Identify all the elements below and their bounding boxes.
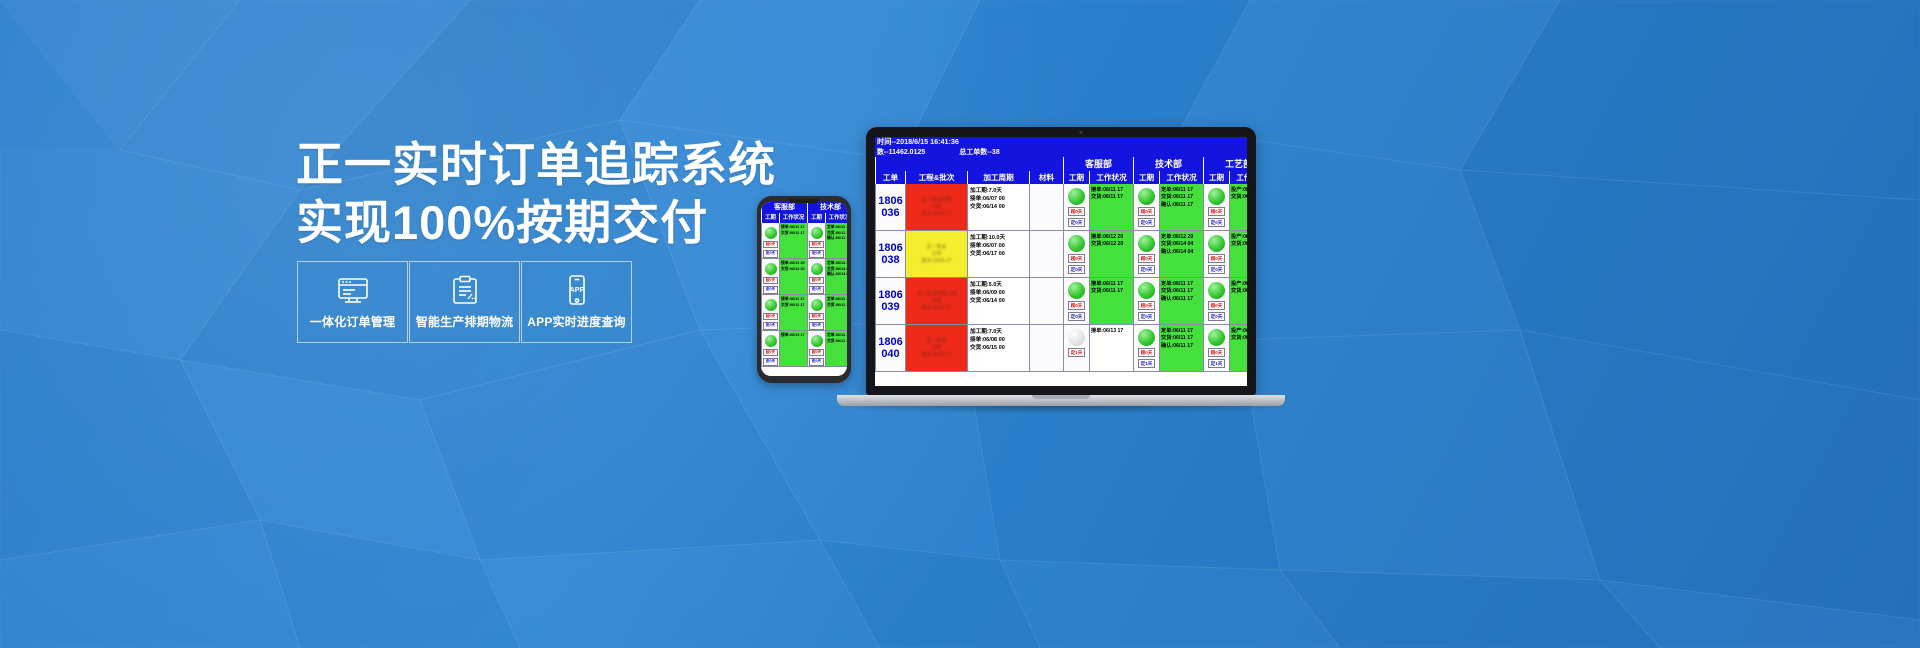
status-badge: 超0天 [1208, 254, 1226, 263]
feature-label: APP实时进度查询 [527, 313, 625, 330]
phone-work-status-cell-d0[interactable]: 接单:06/11 17交货:06/11 17 [779, 295, 807, 331]
status-indicator-green [765, 335, 777, 347]
status-indicator-green [1138, 329, 1155, 346]
status-badge: 定0天 [809, 358, 824, 366]
processing-cycle-cell[interactable]: 加工期:7.0天接单:06/08 00交货:06/15 00 [967, 325, 1029, 372]
processing-cycle-cell[interactable]: 加工期:5.0天接单:06/09 00交货:06/14 00 [967, 278, 1029, 325]
work-status-line: 交货:06/12 20 [1091, 241, 1132, 248]
work-order-cell[interactable]: 1806040 [875, 325, 905, 372]
status-badge: 超0天 [763, 313, 778, 321]
laptop-lid: 时间--2018/6/15 16:41:36 数--11462.0125 总工单… [866, 127, 1256, 395]
column-header-d1-0[interactable]: 工期 [1133, 171, 1159, 184]
phone-column-header-d0-1[interactable]: 工作状况 [779, 213, 807, 223]
material-cell[interactable] [1029, 231, 1063, 278]
work-status-line: 确认:06/14 04 [1161, 249, 1202, 256]
status-badge: 超0天 [1138, 348, 1156, 357]
dashboard-metabar: 数--11462.0125 总工单数--38 [875, 147, 1247, 157]
work-status-cell-d0[interactable]: 接单:06/12 20交货:06/12 20 [1089, 231, 1133, 278]
project-batch-cell[interactable]: 正一实业公司批次-2018-17 [905, 231, 967, 278]
dashboard-time: 时间--2018/6/15 16:41:36 [877, 137, 959, 147]
work-status-line: 定单:06/12 20 [827, 261, 847, 267]
status-badge: 超0天 [763, 277, 778, 285]
term-cell-d2[interactable]: 超0天定0天 [1203, 184, 1229, 231]
processing-cycle-cell[interactable]: 加工期:7.0天接单:06/07 00交货:06/14 00 [967, 184, 1029, 231]
material-cell[interactable] [1029, 325, 1063, 372]
work-order-cell[interactable]: 1806039 [875, 278, 905, 325]
phone-column-header-row: 工期工作状况工期工作状况 [761, 213, 847, 223]
phone-term-cell-d0[interactable]: 超0天定0天 [761, 259, 779, 295]
cycle-line: 接单:06/08 00 [970, 336, 1027, 344]
column-header-d0-0[interactable]: 工期 [1063, 171, 1089, 184]
phone-notch [789, 199, 819, 203]
term-cell-d1[interactable]: 超0天定0天 [1133, 184, 1159, 231]
work-status-line: 定单:06/11 17 [827, 297, 847, 303]
project-batch-cell[interactable]: 正一实业有限公司批次-2018-17 [905, 184, 967, 231]
work-status-line: 交货:06/12 09 [1231, 288, 1247, 295]
status-badge: 定0天 [1208, 218, 1226, 227]
order-tracking-dashboard: 时间--2018/6/15 16:41:36 数--11462.0125 总工单… [875, 137, 1247, 386]
phone-table-row[interactable]: 超0天定0天接单:06/11 17交货:06/11 17超0天定0天定单:06/… [761, 223, 847, 259]
work-order-bottom: 038 [881, 254, 899, 266]
work-order-top: 1806 [878, 289, 902, 301]
work-order-cell[interactable]: 1806036 [875, 184, 905, 231]
status-badge: 定1天 [1208, 359, 1226, 368]
dept-header-0[interactable]: 客服部 [1063, 157, 1133, 171]
smartphone-mockup: 客服部技术部 工期工作状况工期工作状况 超0天定0天接单:06/11 17交货:… [757, 196, 851, 383]
status-badge: 超0天 [1068, 301, 1086, 310]
phone-column-header-d0-0[interactable]: 工期 [761, 213, 779, 223]
feature-label: 智能生产排期物流 [416, 313, 514, 330]
status-badge: 超0天 [763, 349, 778, 357]
status-badge: 定1天 [1068, 348, 1086, 357]
table-row[interactable]: 1806038正一实业公司批次-2018-17加工期:10.0天接单:06/07… [875, 231, 1247, 278]
work-status-line: 交货:06/11 17 [1161, 288, 1202, 295]
work-status-line: 接单:06/12 20 [781, 261, 806, 267]
cycle-line: 交货:06/15 00 [970, 344, 1027, 352]
phone-dashboard: 客服部技术部 工期工作状况工期工作状况 超0天定0天接单:06/11 17交货:… [761, 202, 847, 376]
status-badge: 定0天 [1138, 218, 1156, 227]
phone-work-status-cell-d0[interactable]: 接单:06/13 17 [779, 331, 807, 367]
phone-work-status-cell-d1[interactable]: 定单:06/11 17交货:06/11 17确认:06/11 17 [825, 223, 847, 259]
work-status-cell-d0[interactable]: 接单:06/11 17交货:06/11 17 [1089, 184, 1133, 231]
status-indicator-green [1138, 282, 1155, 299]
feature-list: 一体化订单管理 智能生产排期物流 [297, 261, 633, 343]
feature-label: 一体化订单管理 [310, 313, 395, 330]
feature-item-app-progress-query[interactable]: APP APP实时进度查询 [521, 261, 632, 343]
term-cell-d0[interactable]: 超0天定0天 [1063, 184, 1089, 231]
status-badge: 定0天 [1138, 312, 1156, 321]
project-batch-text: 正一实业公司批次-2018-17 [921, 244, 951, 265]
table-row[interactable]: 1806036正一实业有限公司批次-2018-17加工期:7.0天接单:06/0… [875, 184, 1247, 231]
term-cell-d0[interactable]: 超0天定0天 [1063, 231, 1089, 278]
status-indicator-green [765, 299, 777, 311]
cycle-line: 接单:06/07 00 [970, 242, 1027, 250]
term-cell-d1[interactable]: 超0天定1天 [1133, 325, 1159, 372]
promo-banner: 正一实时订单追踪系统 实现100%按期交付 一体化订单管理 [0, 0, 1920, 648]
status-badge: 超0天 [1068, 207, 1086, 216]
status-indicator-green [1208, 188, 1225, 205]
dashboard-meta-number: 数--11462.0125 [875, 147, 925, 157]
cycle-line: 接单:06/07 00 [970, 195, 1027, 203]
term-cell-d0[interactable]: 定1天 [1063, 325, 1089, 372]
work-status-line: 交货:06/12 20 [781, 267, 806, 273]
column-header-row: 工单工程&批次加工周期材料工期工作状况工期工作状况工期工作状况工期工作状况工期工… [875, 171, 1247, 184]
status-indicator-green [1208, 329, 1225, 346]
project-batch-cell[interactable]: 正一实业公司批次-2018-17 [905, 325, 967, 372]
dept-header-spacer [875, 157, 1063, 171]
phone-term-cell-d0[interactable]: 超0天定0天 [761, 331, 779, 367]
work-status-line: 交货:06/11 17 [1161, 194, 1202, 201]
work-status-line: 交货:06/14 04 [1161, 241, 1202, 248]
status-indicator-green [1068, 188, 1085, 205]
status-badge: 超0天 [1208, 301, 1226, 310]
feature-item-order-management[interactable]: 一体化订单管理 [297, 261, 408, 343]
work-status-line: 交货:06/11 17 [1161, 335, 1202, 342]
cycle-line: 加工期:7.0天 [970, 328, 1027, 336]
cycle-line: 加工期:5.0天 [970, 281, 1027, 289]
work-status-line: 确认:06/11 17 [827, 236, 847, 242]
phone-screen: 客服部技术部 工期工作状况工期工作状况 超0天定0天接单:06/11 17交货:… [761, 202, 847, 376]
status-indicator-green [811, 335, 823, 347]
work-status-line: 交货:06/11 17 [1091, 288, 1132, 295]
project-batch-cell[interactable]: 正一实业有限公司公司批次-2018-17 [905, 278, 967, 325]
status-badge: 定1天 [1138, 359, 1156, 368]
phone-term-cell-d1[interactable]: 超0天定0天 [807, 259, 825, 295]
work-order-bottom: 040 [881, 348, 899, 360]
status-indicator-green [1208, 235, 1225, 252]
work-order-top: 1806 [878, 195, 902, 207]
phone-work-status-cell-d1[interactable]: 定单:06/12 20交货:06/14 04确认:06/14 04 [825, 259, 847, 295]
dashboard-total-orders: 总工单数--38 [959, 147, 999, 157]
work-status-line: 确认:06/14 04 [827, 272, 847, 278]
work-status-line: 交货:06/11 17 [1231, 194, 1247, 201]
material-cell[interactable] [1029, 278, 1063, 325]
status-badge: 定0天 [1138, 265, 1156, 274]
status-indicator-green [1068, 235, 1085, 252]
laptop-notch [1032, 395, 1090, 399]
status-badge: 超0天 [1138, 254, 1156, 263]
clipboard-icon [448, 274, 482, 306]
status-badge: 超0天 [1138, 207, 1156, 216]
work-order-top: 1806 [878, 336, 902, 348]
work-status-line: 确认:06/11 17 [1161, 343, 1202, 350]
table-row[interactable]: 1806040正一实业公司批次-2018-17加工期:7.0天接单:06/08 … [875, 325, 1247, 372]
laptop-mockup: 时间--2018/6/15 16:41:36 数--11462.0125 总工单… [866, 127, 1296, 413]
phone-dept-header-0[interactable]: 客服部 [761, 202, 807, 213]
status-badge: 超0天 [1068, 254, 1086, 263]
phone-dept-header-1[interactable]: 技术部 [807, 202, 847, 213]
work-status-cell-d2[interactable]: 投产:06/11 17交货:06/11 17 [1229, 325, 1247, 372]
work-status-cell-d2[interactable]: 投产:06/14 04交货:06/14 04 [1229, 231, 1247, 278]
cycle-line: 接单:06/09 00 [970, 289, 1027, 297]
status-badge: 定0天 [763, 250, 778, 258]
phone-column-header-d1-1[interactable]: 工作状况 [825, 213, 847, 223]
work-status-cell-d1[interactable]: 定单:06/11 17交货:06/11 17确认:06/11 17 [1159, 278, 1203, 325]
work-status-line: 交货:06/11 17 [827, 303, 847, 309]
material-cell[interactable] [1029, 184, 1063, 231]
status-indicator-green [1208, 282, 1225, 299]
status-indicator-white [1068, 329, 1085, 346]
status-indicator-green [811, 227, 823, 239]
monitor-icon [336, 274, 370, 306]
project-batch-text: 正一实业公司批次-2018-17 [921, 338, 951, 359]
status-badge: 定0天 [763, 286, 778, 294]
work-status-line: 接单:06/13 17 [1091, 328, 1132, 335]
cycle-line: 加工期:10.0天 [970, 234, 1027, 242]
work-status-cell-d1[interactable]: 定单:06/11 17交货:06/11 17确认:06/11 17 [1159, 325, 1203, 372]
status-indicator-green [765, 263, 777, 275]
phone-table-row[interactable]: 超0天定0天接单:06/13 17超0天定0天定单:06/11 17交货:06/… [761, 331, 847, 367]
phone-app-icon: APP [560, 274, 594, 306]
phone-term-cell-d0[interactable]: 超0天定0天 [761, 223, 779, 259]
phone-work-status-cell-d0[interactable]: 接单:06/11 17交货:06/11 17 [779, 223, 807, 259]
cycle-line: 加工期:7.0天 [970, 187, 1027, 195]
phone-work-status-cell-d1[interactable]: 定单:06/11 17交货:06/11 17 [825, 295, 847, 331]
work-status-cell-d1[interactable]: 定单:06/12 20交货:06/14 04确认:06/14 04 [1159, 231, 1203, 278]
work-order-top: 1806 [878, 242, 902, 254]
work-status-line: 交货:06/11 17 [1091, 194, 1132, 201]
department-header-row: 客服部技术部工艺部生产部跟单部 [875, 157, 1247, 171]
work-status-line: 定单:06/11 17 [827, 225, 847, 231]
status-badge: 定0天 [809, 286, 824, 294]
column-header-d1-1[interactable]: 工作状况 [1159, 171, 1203, 184]
cycle-line: 交货:06/14 00 [970, 203, 1027, 211]
cycle-line: 交货:06/17 00 [970, 250, 1027, 258]
status-badge: 定0天 [809, 250, 824, 258]
term-cell-d1[interactable]: 超0天定0天 [1133, 231, 1159, 278]
work-status-cell-d1[interactable]: 定单:06/11 17交货:06/11 17确认:06/11 17 [1159, 184, 1203, 231]
work-status-line: 交货:06/11 17 [781, 303, 806, 309]
laptop-shadow [826, 406, 1296, 413]
work-status-line: 确认:06/11 17 [1161, 296, 1202, 303]
column-header-0[interactable]: 工单 [875, 171, 905, 184]
term-cell-d2[interactable]: 超0天定0天 [1203, 278, 1229, 325]
status-badge: 定0天 [1208, 265, 1226, 274]
svg-text:APP: APP [569, 285, 584, 294]
work-status-line: 交货:06/14 04 [1231, 241, 1247, 248]
status-badge: 超0天 [809, 277, 824, 285]
status-badge: 定0天 [809, 322, 824, 330]
work-status-line: 接单:06/11 17 [781, 297, 806, 303]
work-order-bottom: 039 [881, 301, 899, 313]
column-header-d0-1[interactable]: 工作状况 [1089, 171, 1133, 184]
status-badge: 超0天 [809, 349, 824, 357]
order-table-body[interactable]: 1806036正一实业有限公司批次-2018-17加工期:7.0天接单:06/0… [875, 184, 1247, 372]
status-indicator-green [1068, 282, 1085, 299]
cycle-line: 交货:06/14 00 [970, 297, 1027, 305]
status-badge: 定0天 [763, 358, 778, 366]
dept-header-1[interactable]: 技术部 [1133, 157, 1203, 171]
phone-table-row[interactable]: 超0天定0天接单:06/11 17交货:06/11 17超0天定0天定单:06/… [761, 295, 847, 331]
status-badge: 超0天 [809, 241, 824, 249]
work-status-line: 交货:06/11 17 [781, 231, 806, 237]
status-badge: 超0天 [1208, 348, 1226, 357]
status-badge: 定0天 [1208, 312, 1226, 321]
work-status-line: 确认:06/11 17 [1161, 202, 1202, 209]
status-indicator-green [765, 227, 777, 239]
status-indicator-green [811, 299, 823, 311]
phone-column-header-d1-0[interactable]: 工期 [807, 213, 825, 223]
status-badge: 定0天 [763, 322, 778, 330]
term-cell-d0[interactable]: 超0天定0天 [1063, 278, 1089, 325]
phone-dept-header-row: 客服部技术部 [761, 202, 847, 213]
webcam-icon [1080, 131, 1083, 134]
status-badge: 定0天 [1068, 312, 1086, 321]
table-row[interactable]: 1806039正一实业有限公司公司批次-2018-17加工期:5.0天接单:06… [875, 278, 1247, 325]
column-header-2[interactable]: 加工周期 [967, 171, 1029, 184]
work-status-line: 交货:06/11 17 [1231, 335, 1247, 342]
status-indicator-green [1138, 188, 1155, 205]
project-batch-text: 正一实业有限公司公司批次-2018-17 [916, 291, 956, 312]
processing-cycle-cell[interactable]: 加工期:10.0天接单:06/07 00交货:06/17 00 [967, 231, 1029, 278]
term-cell-d2[interactable]: 超0天定1天 [1203, 325, 1229, 372]
status-badge: 定0天 [1068, 265, 1086, 274]
phone-table-row[interactable]: 超0天定0天接单:06/12 20交货:06/12 20超0天定0天定单:06/… [761, 259, 847, 295]
term-cell-d2[interactable]: 超0天定0天 [1203, 231, 1229, 278]
status-badge: 定0天 [1068, 218, 1086, 227]
term-cell-d1[interactable]: 超0天定0天 [1133, 278, 1159, 325]
work-status-cell-d2[interactable]: 投产:06/12 09交货:06/12 09 [1229, 278, 1247, 325]
project-batch-text: 正一实业有限公司批次-2018-17 [921, 197, 951, 218]
status-badge: 超0天 [1138, 301, 1156, 310]
phone-term-cell-d1[interactable]: 超0天定0天 [807, 295, 825, 331]
work-status-cell-d2[interactable]: 投产:06/11 17交货:06/11 17 [1229, 184, 1247, 231]
phone-term-cell-d0[interactable]: 超0天定0天 [761, 295, 779, 331]
dashboard-timebar: 时间--2018/6/15 16:41:36 [875, 137, 1247, 147]
column-header-3[interactable]: 材料 [1029, 171, 1063, 184]
phone-term-cell-d1[interactable]: 超0天定0天 [807, 331, 825, 367]
column-header-d2-0[interactable]: 工期 [1203, 171, 1229, 184]
status-badge: 超0天 [809, 313, 824, 321]
column-header-d2-1[interactable]: 工作状况 [1229, 171, 1247, 184]
feature-item-production-scheduling[interactable]: 智能生产排期物流 [409, 261, 520, 343]
phone-work-status-cell-d0[interactable]: 接单:06/12 20交货:06/12 20 [779, 259, 807, 295]
column-header-1[interactable]: 工程&批次 [905, 171, 967, 184]
phone-term-cell-d1[interactable]: 超0天定0天 [807, 223, 825, 259]
phone-work-status-cell-d1[interactable]: 定单:06/11 17交货:06/11 17 [825, 331, 847, 367]
phone-table-body[interactable]: 超0天定0天接单:06/11 17交货:06/11 17超0天定0天定单:06/… [761, 223, 847, 367]
status-indicator-green [1138, 235, 1155, 252]
work-status-line: 接单:06/13 17 [781, 333, 806, 339]
work-status-line: 交货:06/11 17 [827, 339, 847, 345]
dept-header-2[interactable]: 工艺部 [1203, 157, 1247, 171]
work-status-line: 接单:06/11 17 [781, 225, 806, 231]
work-status-line: 定单:06/11 17 [827, 333, 847, 339]
work-order-cell[interactable]: 1806038 [875, 231, 905, 278]
work-order-bottom: 036 [881, 207, 899, 219]
status-badge: 超0天 [763, 241, 778, 249]
work-status-cell-d0[interactable]: 接单:06/11 17交货:06/11 17 [1089, 278, 1133, 325]
work-status-cell-d0[interactable]: 接单:06/13 17 [1089, 325, 1133, 372]
status-badge: 超0天 [1208, 207, 1226, 216]
laptop-screen: 时间--2018/6/15 16:41:36 数--11462.0125 总工单… [875, 137, 1247, 386]
laptop-base [837, 395, 1285, 406]
status-indicator-green [811, 263, 823, 275]
